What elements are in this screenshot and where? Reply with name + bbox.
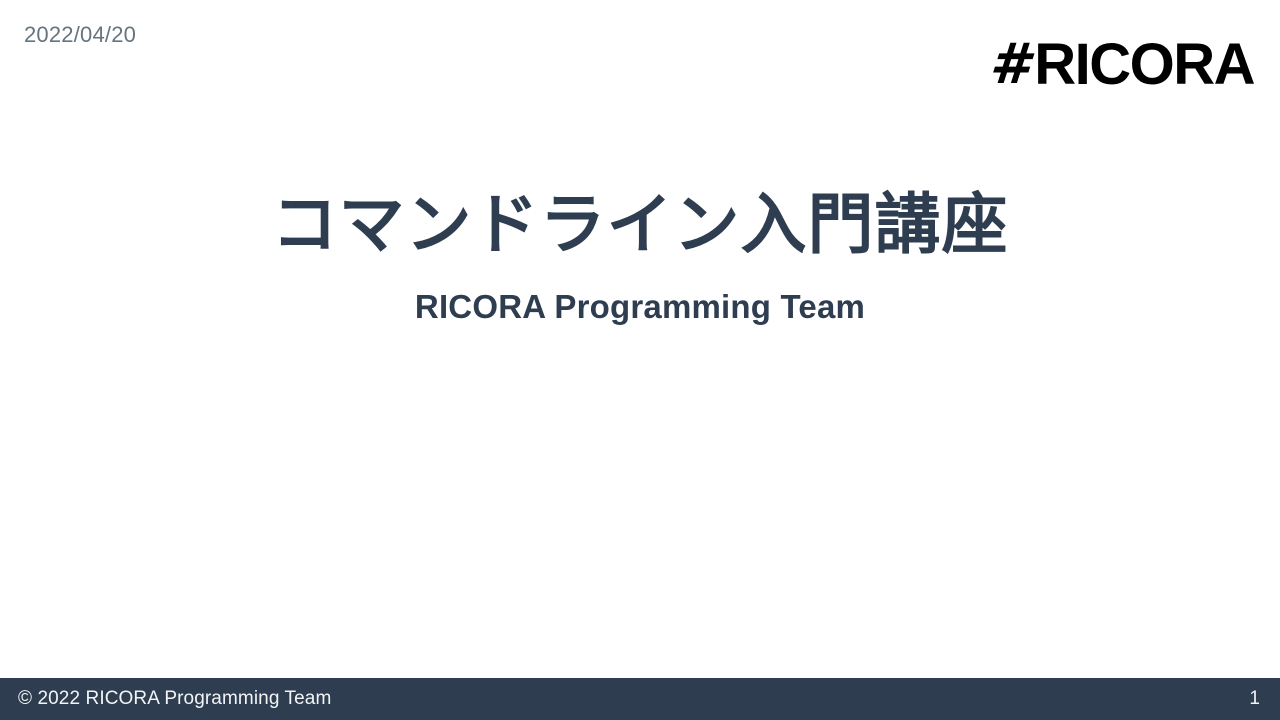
title-slide: 2022/04/20 # RICORA コマンドライン入門講座 RICORA P… [0,0,1280,720]
page-title: コマンドライン入門講座 [0,186,1280,264]
content-area [0,329,1280,678]
page-subtitle: RICORA Programming Team [0,286,1280,329]
ricora-logo: # RICORA [990,34,1254,96]
footer-copyright: © 2022 RICORA Programming Team [18,678,331,720]
hash-icon: # [988,37,1030,93]
slide-body: コマンドライン入門講座 RICORA Programming Team [0,0,1280,678]
footer-page-number: 1 [1244,678,1260,720]
slide-date: 2022/04/20 [24,21,136,49]
title-block: コマンドライン入門講座 RICORA Programming Team [0,186,1280,329]
brand-name: RICORA [1034,36,1254,94]
slide-footer: © 2022 RICORA Programming Team 1 [0,678,1280,720]
